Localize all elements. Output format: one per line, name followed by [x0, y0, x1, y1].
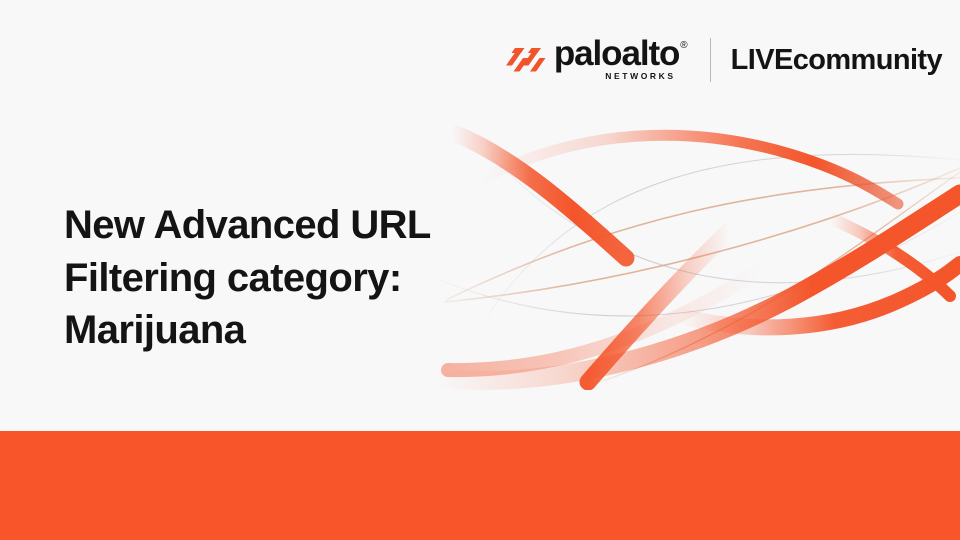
swoosh-band-lower-sweep	[436, 194, 960, 380]
palo-alto-networks-logo-mark	[506, 45, 546, 75]
faint-curve-1	[488, 154, 960, 315]
livecommunity-wordmark[interactable]: LIVEcommunity	[731, 44, 942, 77]
hairline-curve-1	[444, 168, 960, 302]
palo-alto-wordmark: paloalto	[554, 38, 679, 70]
palo-alto-networks-logo[interactable]: paloalto ® NETWORKS	[506, 36, 688, 84]
brand-divider	[710, 38, 711, 82]
hairline-curve-3	[600, 172, 960, 382]
hairline-curve-2	[446, 178, 960, 300]
swoosh-band-bottom	[680, 264, 960, 327]
slide-canvas: paloalto ® NETWORKS LIVEcommunity New Ad…	[0, 0, 960, 540]
page-title-line-2: Filtering category:	[64, 252, 504, 305]
networks-subtext: NETWORKS	[605, 71, 675, 81]
faint-curve-3	[440, 212, 960, 316]
faint-curve-2	[490, 155, 960, 283]
palo-alto-wordmark-block: paloalto ® NETWORKS	[554, 38, 688, 81]
page-title-line-3: Marijuana	[64, 304, 504, 357]
swoosh-band-right-descend	[830, 218, 950, 296]
page-title-line-1: New Advanced URL	[64, 199, 504, 252]
swoosh-band-upper	[480, 135, 898, 204]
flowing-swoosh-graphic	[430, 120, 960, 390]
swoosh-band-center-diagonal	[588, 230, 730, 382]
page-title: New Advanced URL Filtering category: Mar…	[64, 199, 504, 357]
registered-trademark-icon: ®	[680, 41, 687, 51]
brand-bar: paloalto ® NETWORKS LIVEcommunity	[506, 36, 942, 84]
bottom-accent-bar	[0, 431, 960, 540]
